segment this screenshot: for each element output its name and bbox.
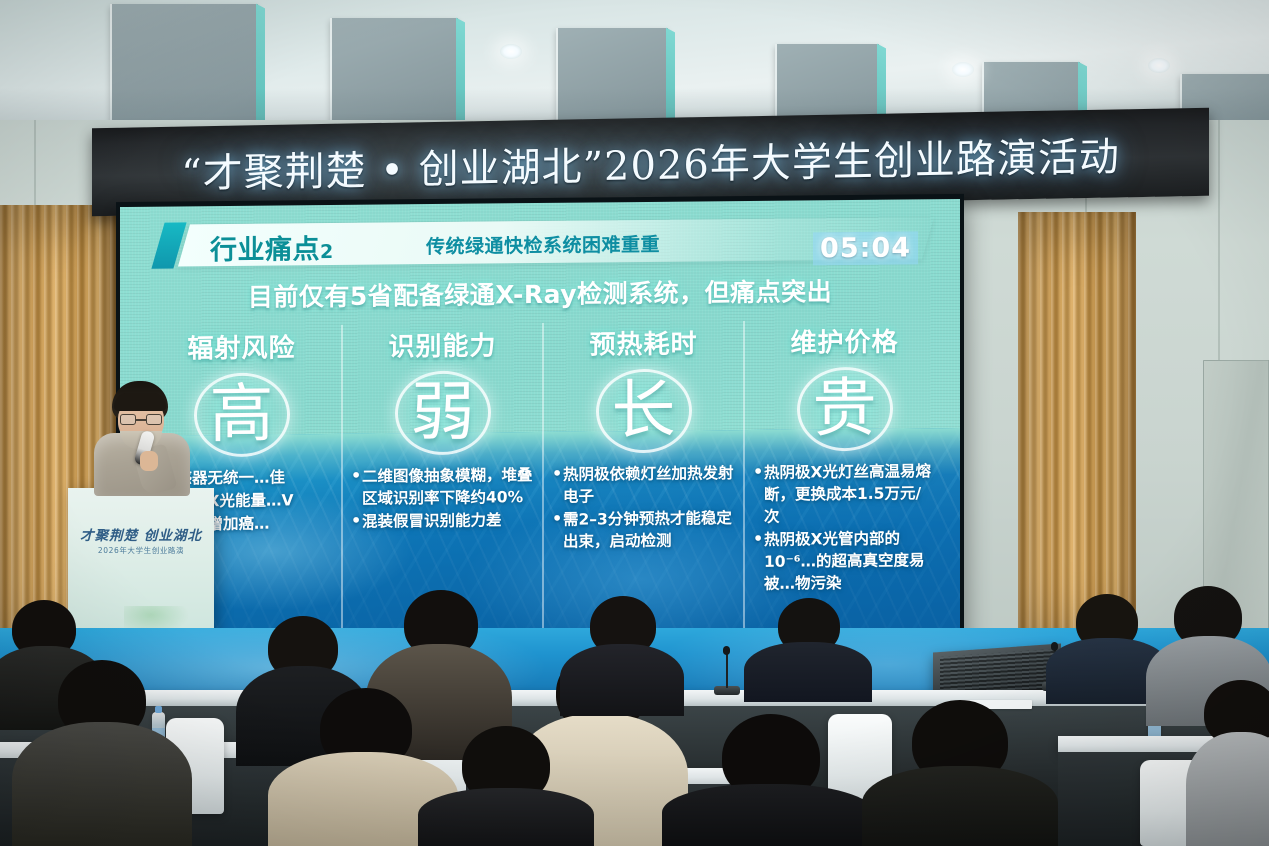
event-banner-title: “才聚荆楚 • 创业湖北”2026年大学生创业路演活动 [92, 123, 1209, 201]
column-verdict-wrap: 弱 [349, 366, 536, 460]
attendee-shoulders [560, 644, 684, 716]
slide-section-label-text: 行业痛点 [210, 234, 320, 266]
slide-column-maintenance-price: 维护价格 贵 热阴极X光灯丝高温易熔断，更换成本1.5万元/次 热阴极X光管内部… [745, 319, 944, 638]
bullet-item: 混装假冒识别能力差 [351, 509, 534, 533]
attendee [418, 726, 594, 846]
slide-headline: 目前仅有5省配备绿通X-Ray检测系统，但痛点突出 [120, 271, 960, 315]
ceiling-downlight [952, 62, 974, 77]
column-title: 识别能力 [349, 325, 536, 364]
podium-subtitle: 2026年大学生创业路演 [68, 545, 214, 556]
ceiling-downlight [1148, 58, 1170, 73]
conference-hall-photo: “才聚荆楚 • 创业湖北”2026年大学生创业路演活动 行业痛点2 传统绿通快检… [0, 0, 1269, 846]
column-title: 辐射风险 [148, 327, 335, 366]
slide-columns: 辐射风险 高 传感器无统一…佳 …阴极X光能量…V …露会增加癌… 识别能力 [142, 319, 944, 644]
attendee-shoulders [418, 788, 594, 846]
attendee-shoulders [1186, 732, 1269, 846]
column-verdict: 弱 [349, 372, 536, 454]
presentation-timer: 05:04 [813, 231, 918, 265]
bullet-item: 热阴极X光管内部的10⁻⁶…的超高真空度易被…物污染 [753, 527, 936, 595]
projection-screen-frame: 行业痛点2 传统绿通快检系统困难重重 05:04 目前仅有5省配备绿通X-Ray… [116, 194, 964, 654]
attendee [662, 714, 874, 846]
slide-section-label: 行业痛点2 [210, 227, 334, 267]
column-bullets: 热阴极X光灯丝高温易熔断，更换成本1.5万元/次 热阴极X光管内部的10⁻⁶…的… [751, 460, 938, 595]
bullet-item: 热阴极依赖灯丝加热发射电子 [552, 462, 735, 508]
ceiling [0, 0, 1269, 128]
attendee [560, 596, 684, 716]
column-verdict-wrap: 贵 [751, 362, 938, 456]
bullet-item: 二维图像抽象模糊，堆叠区域识别率下降约40% [351, 464, 534, 510]
attendee-shoulders [12, 722, 192, 846]
attendee [862, 700, 1058, 846]
attendee-shoulders [862, 766, 1058, 846]
column-bullets: 热阴极依赖灯丝加热发射电子 需2–3分钟预热才能稳定出束，启动检测 [550, 462, 737, 553]
gooseneck-mic-head [723, 646, 730, 655]
attendee [1186, 680, 1269, 846]
slide-header: 行业痛点2 传统绿通快检系统困难重重 05:04 [158, 217, 928, 268]
attendee [12, 660, 192, 846]
column-title: 预热耗时 [550, 323, 737, 362]
presenter-fringe [114, 393, 166, 411]
presenter-glasses [120, 414, 162, 425]
gooseneck-mic-neck [726, 652, 728, 688]
column-verdict: 贵 [751, 368, 938, 450]
presentation-slide: 行业痛点2 传统绿通快检系统困难重重 05:04 目前仅有5省配备绿通X-Ray… [120, 199, 960, 648]
column-title: 维护价格 [751, 321, 938, 360]
slide-column-preheat-time: 预热耗时 长 热阴极依赖灯丝加热发射电子 需2–3分钟预热才能稳定出束，启动检测 [544, 321, 745, 640]
attendee [744, 598, 872, 702]
presenter [86, 381, 204, 496]
slide-section-subtitle: 传统绿通快检系统困难重重 [426, 230, 660, 259]
column-verdict-wrap: 长 [550, 364, 737, 458]
bullet-item: 热阴极X光灯丝高温易熔断，更换成本1.5万元/次 [753, 460, 936, 528]
bullet-item: 需2–3分钟预热才能稳定出束，启动检测 [552, 507, 735, 553]
podium-title: 才聚荆楚 创业湖北 [68, 524, 214, 544]
presenter-hand [140, 451, 158, 471]
column-bullets: 二维图像抽象模糊，堆叠区域识别率下降约40% 混装假冒识别能力差 [349, 464, 536, 533]
attendee-shoulders [744, 642, 872, 702]
attendee-shoulders [662, 784, 874, 846]
column-verdict: 长 [550, 370, 737, 452]
slide-section-number: 2 [320, 241, 334, 263]
ceiling-downlight [500, 44, 522, 59]
